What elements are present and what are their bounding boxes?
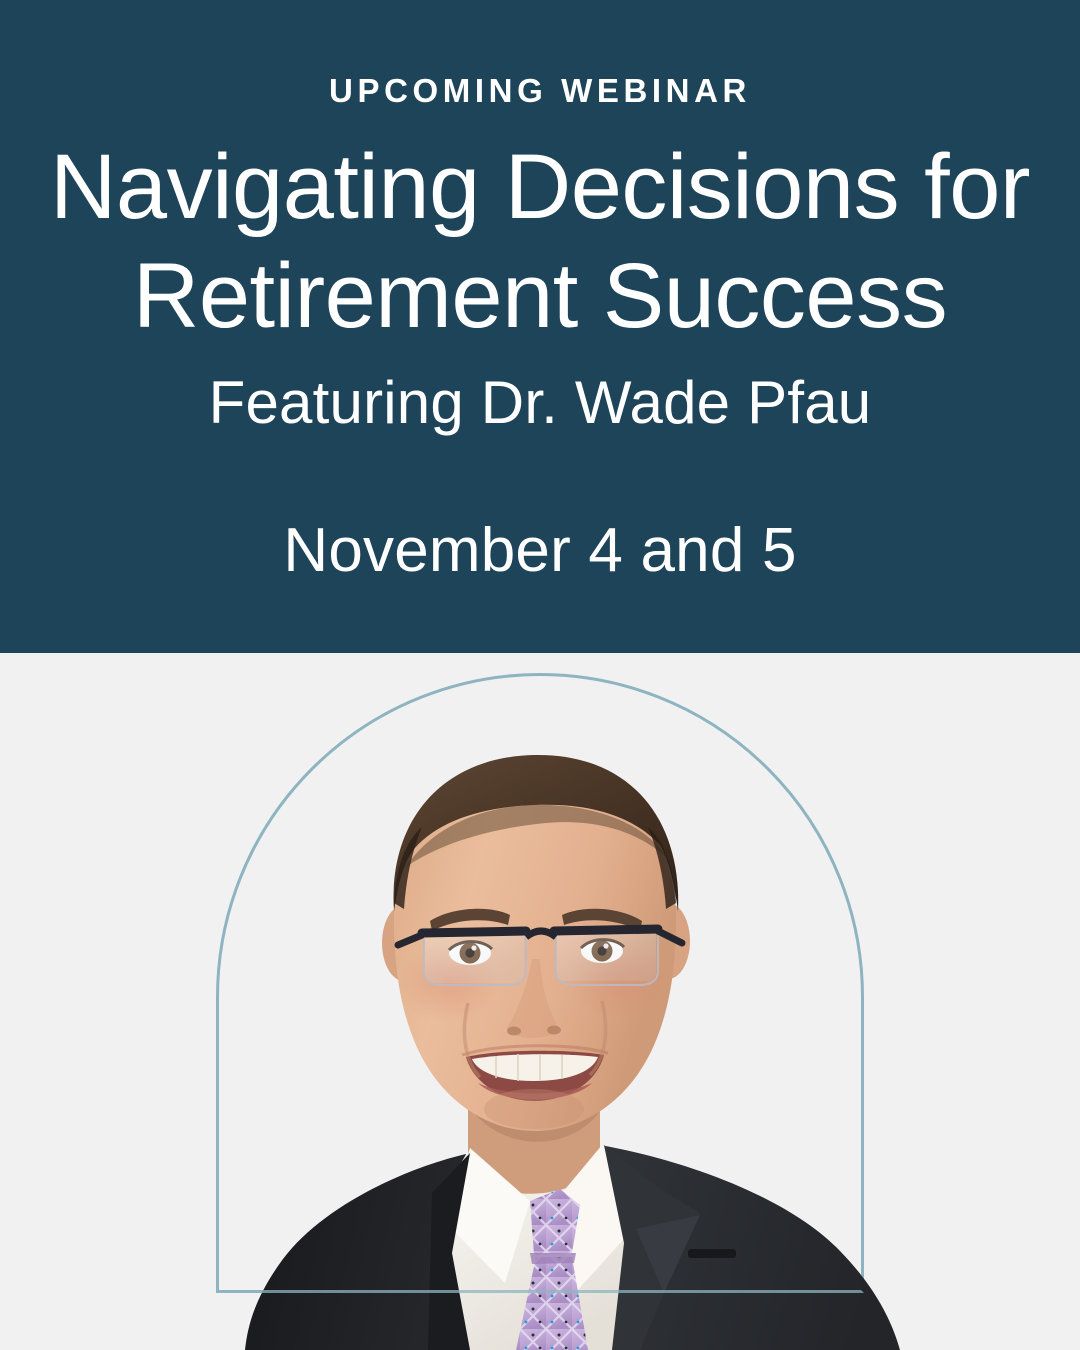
hero-panel: UPCOMING WEBINAR Navigating Decisions fo… <box>0 0 1080 653</box>
rim-top-right <box>554 929 658 931</box>
event-date: November 4 and 5 <box>0 515 1080 586</box>
page-title: Navigating Decisions for Retirement Succ… <box>0 133 1080 350</box>
nostril-right <box>547 1026 561 1035</box>
chin-shadow <box>484 1089 584 1129</box>
photo-panel <box>0 653 1080 1350</box>
headline-line-1: Navigating Decisions for <box>0 133 1080 242</box>
tie-knot-shadow <box>530 1253 576 1264</box>
promo-card: UPCOMING WEBINAR Navigating Decisions fo… <box>0 0 1080 1350</box>
portrait-illustration <box>0 653 1080 1350</box>
pocket-welt <box>688 1249 736 1258</box>
speaker-portrait <box>0 653 1080 1350</box>
subtitle-speaker: Featuring Dr. Wade Pfau <box>0 368 1080 437</box>
headline-line-2: Retirement Success <box>0 242 1080 351</box>
rim-top-left <box>422 931 526 933</box>
nostril-left <box>507 1027 521 1036</box>
eyebrow-label: UPCOMING WEBINAR <box>0 74 1080 107</box>
